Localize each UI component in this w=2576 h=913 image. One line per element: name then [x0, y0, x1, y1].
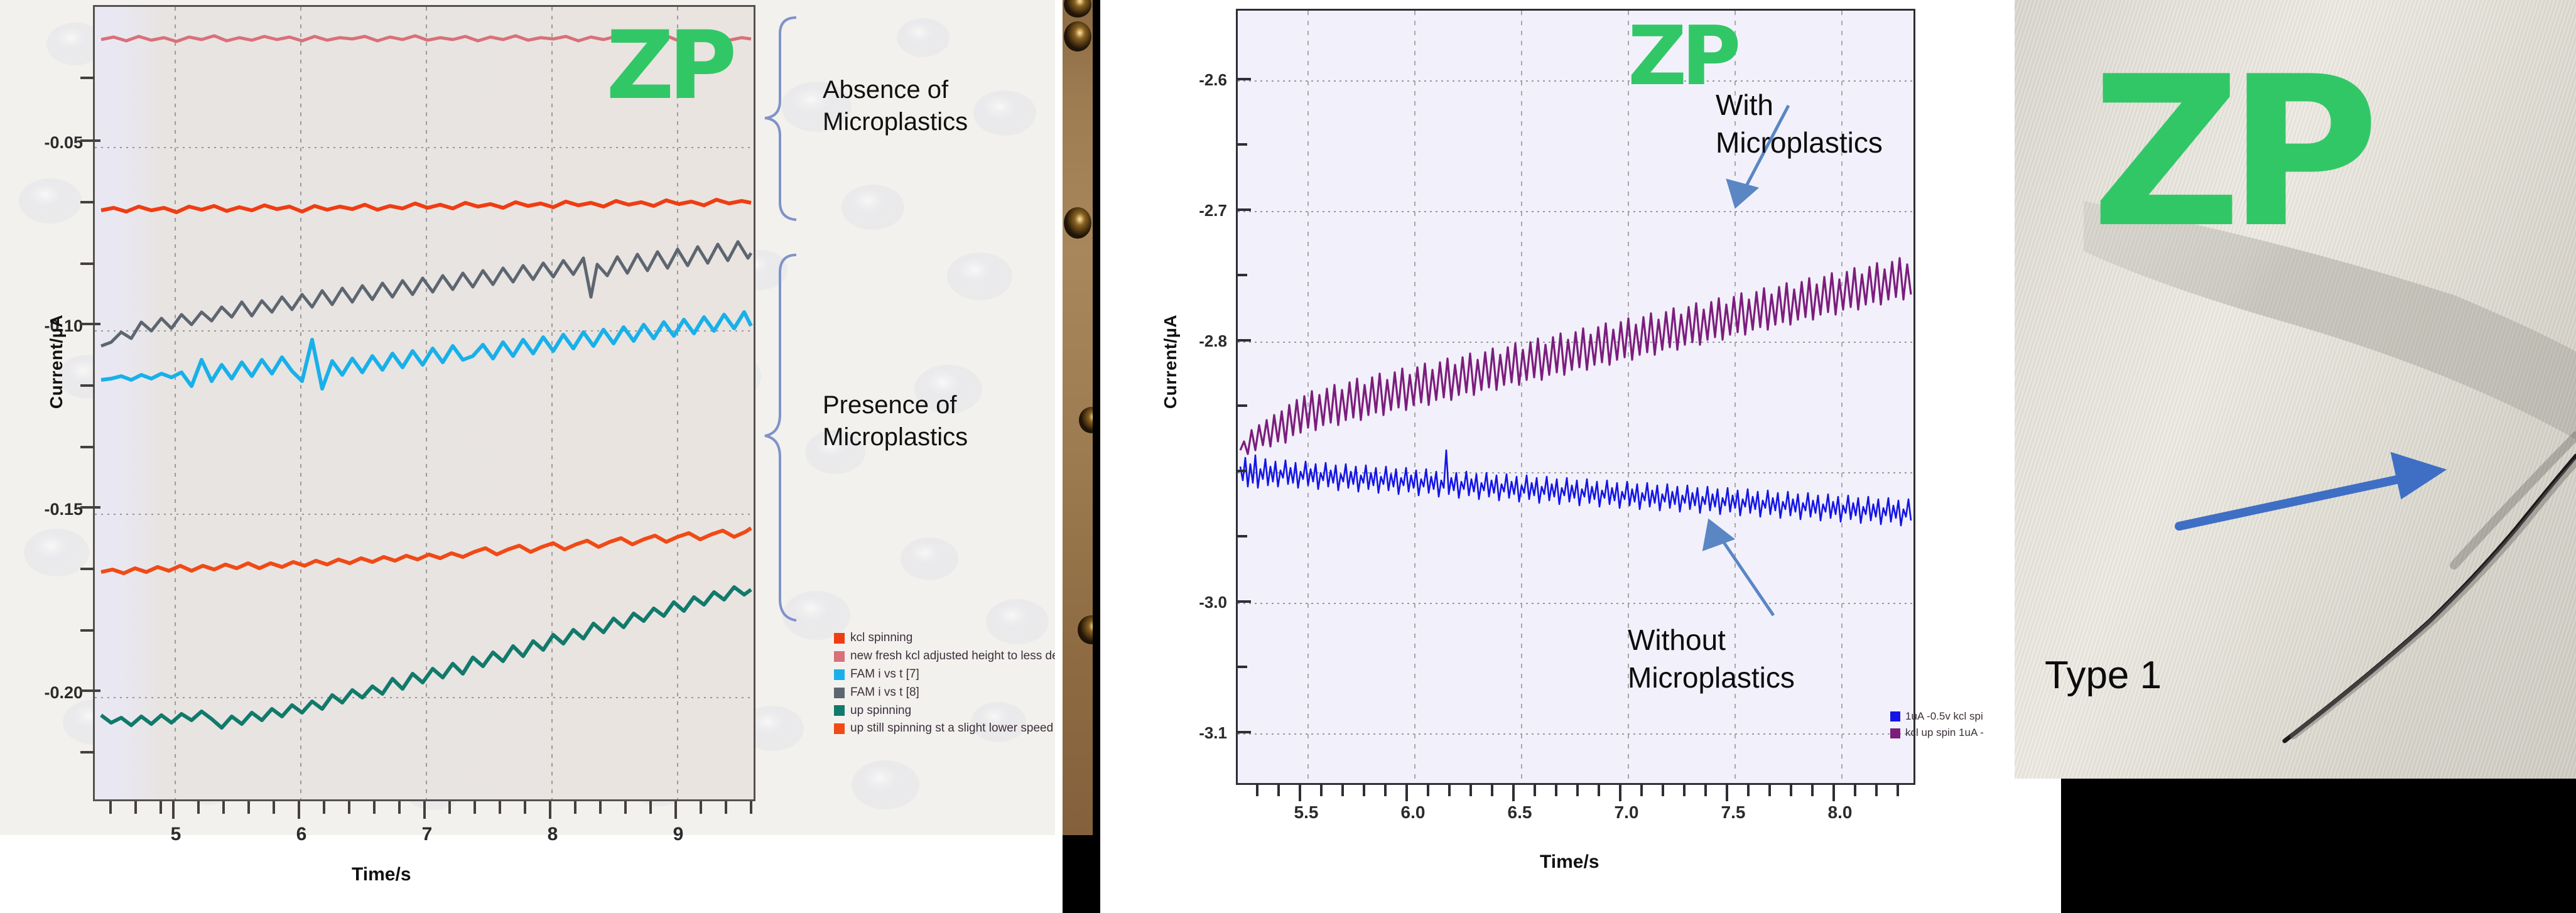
black-gutter [1093, 0, 1100, 913]
sensor-dot [1064, 0, 1091, 18]
panel-b-axis-ticks [1100, 0, 1997, 829]
panel-a-x-axis-label: Time/s [352, 864, 411, 885]
sensor-dot [1064, 207, 1091, 239]
absence-annotation: Absence of Microplastics [823, 74, 968, 138]
presence-bracket [759, 250, 803, 627]
panel-a-legend: kcl spinning new fresh kcl adjusted heig… [834, 629, 1055, 738]
legend-label: 1uA -0.5v kcl spi [1905, 708, 1983, 725]
panel-b-x-axis-label: Time/s [1540, 851, 1599, 873]
microplastic-fibre-image: ZP Type 1 [2015, 0, 2576, 779]
arrow-head [2396, 458, 2437, 492]
panel-b-y-axis-label: Current/µA [1161, 299, 1181, 424]
legend-item[interactable]: new fresh kcl adjusted height to less de… [834, 647, 1055, 666]
absence-bracket [759, 13, 803, 226]
legend-item[interactable]: up spinning [834, 702, 1055, 720]
legend-item[interactable]: 1uA -0.5v kcl spi [1890, 708, 1984, 725]
presence-annotation-line2: Microplastics [823, 421, 968, 453]
panel-b-legend: 1uA -0.5v kcl spi kcl up spin 1uA - [1890, 708, 1984, 742]
panel-b-chart: With Microplastics Without Microplastics… [1100, 0, 1997, 913]
legend-label: kcl up spin 1uA - [1905, 725, 1984, 741]
legend-swatch-kcl-spin-blue [1890, 711, 1900, 721]
legend-label: FAM i vs t [7] [850, 666, 919, 684]
panel-c-white-corner [1997, 779, 2061, 913]
type-1-caption: Type 1 [2045, 653, 2162, 698]
zp-logo-watermark-a: ZP [606, 19, 731, 113]
arrow-shaft [2179, 476, 2414, 526]
panel-a-chart: -0.05 -0.10 -0.15 -0.20 5 6 7 8 9 [0, 0, 1055, 913]
absence-annotation-line1: Absence of [823, 74, 968, 106]
sensor-strip-photo [1063, 0, 1093, 835]
panel-c-photo: ZP Type 1 [1997, 0, 2576, 913]
panel-a-y-axis-label: Current/µA [46, 299, 67, 424]
figure-canvas: -0.05 -0.10 -0.15 -0.20 5 6 7 8 9 [0, 0, 2576, 913]
presence-annotation: Presence of Microplastics [823, 389, 968, 453]
legend-swatch-fam-8 [834, 688, 845, 698]
legend-swatch-up-spinning [834, 705, 845, 716]
legend-item[interactable]: FAM i vs t [7] [834, 666, 1055, 684]
legend-item[interactable]: kcl up spin 1uA - [1890, 725, 1984, 741]
legend-label: up spinning [850, 702, 911, 720]
legend-swatch-up-still-spinning [834, 723, 845, 734]
panel-c-black-bar [2061, 779, 2576, 913]
legend-label: FAM i vs t [8] [850, 684, 919, 702]
black-bar-divider [1063, 835, 1093, 913]
legend-swatch-new-fresh-kcl [834, 651, 845, 662]
sensor-dot [1064, 21, 1091, 51]
legend-label: up still spinning st a slight lower spee… [850, 720, 1053, 738]
legend-item[interactable]: kcl spinning [834, 629, 1055, 647]
legend-item[interactable]: up still spinning st a slight lower spee… [834, 720, 1055, 738]
legend-label: new fresh kcl adjusted height to less de… [850, 647, 1055, 666]
legend-swatch-fam-7 [834, 669, 845, 680]
legend-item[interactable]: FAM i vs t [8] [834, 684, 1055, 702]
absence-annotation-line2: Microplastics [823, 106, 968, 138]
legend-swatch-kcl-up-spin-purple [1890, 728, 1900, 738]
zp-logo-watermark-c: ZP [2091, 49, 2366, 256]
presence-annotation-line1: Presence of [823, 389, 968, 421]
legend-label: kcl spinning [850, 629, 912, 647]
legend-swatch-kcl-spinning [834, 633, 845, 644]
